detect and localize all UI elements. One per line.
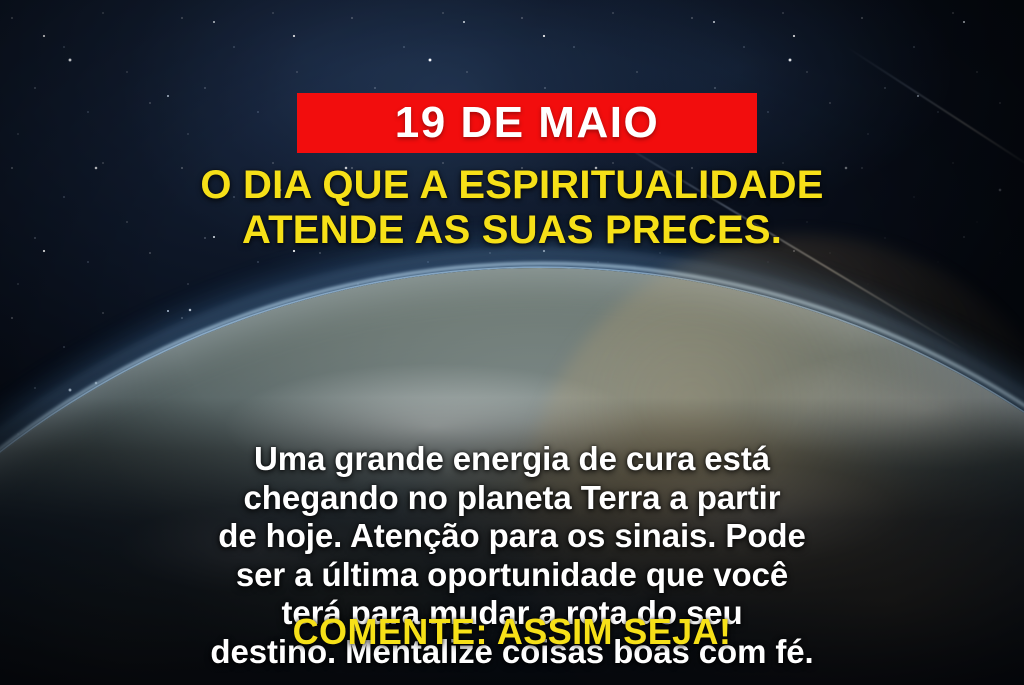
date-banner-label: 19 DE MAIO <box>395 101 659 145</box>
date-banner: 19 DE MAIO <box>297 93 757 153</box>
body-copy-line-3: de hoje. Atenção para os sinais. Pode <box>54 517 970 556</box>
body-copy-line-4: ser a última oportunidade que você <box>54 556 970 595</box>
poster-content: 19 DE MAIO O DIA QUE A ESPIRITUALIDADE A… <box>0 0 1024 685</box>
headline-line-2: ATENDE AS SUAS PRECES. <box>0 208 1024 253</box>
headline: O DIA QUE A ESPIRITUALIDADE ATENDE AS SU… <box>0 163 1024 253</box>
body-copy-line-1: Uma grande energia de cura está <box>54 440 970 479</box>
headline-line-1: O DIA QUE A ESPIRITUALIDADE <box>0 163 1024 208</box>
call-to-action-label: COMENTE: ASSIM SEJA! <box>293 611 732 652</box>
poster-canvas: 19 DE MAIO O DIA QUE A ESPIRITUALIDADE A… <box>0 0 1024 685</box>
call-to-action: COMENTE: ASSIM SEJA! <box>0 612 1024 652</box>
body-copy-line-2: chegando no planeta Terra a partir <box>54 479 970 518</box>
